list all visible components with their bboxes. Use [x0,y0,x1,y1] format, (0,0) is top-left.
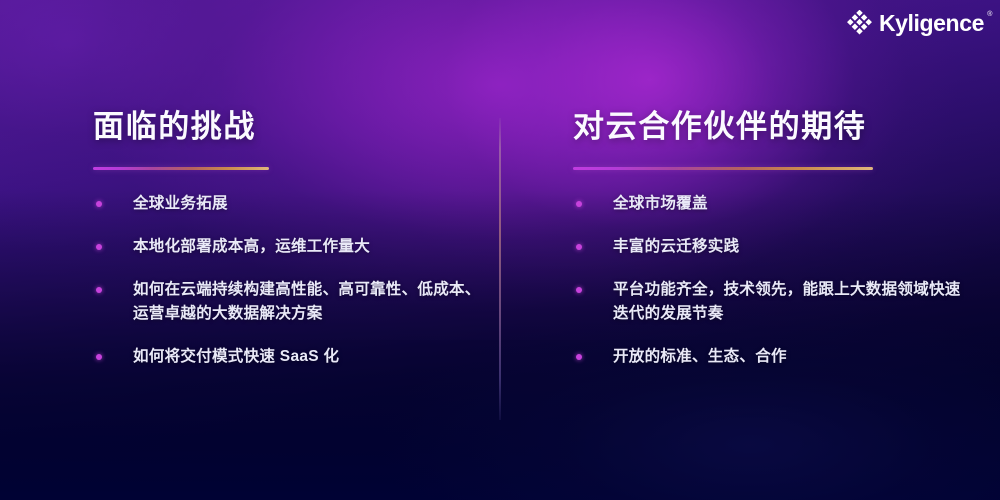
bullet-list-challenges: 全球业务拓展 本地化部署成本高，运维工作量大 如何在云端持续构建高性能、高可靠性… [93,192,483,369]
heading-underline-challenges [93,167,269,170]
presentation-slide: Kyligence ® 面临的挑战 全球业务拓展 本地化部署成本高，运维工作量大… [0,0,1000,500]
list-item: 如何将交付模式快速 SaaS 化 [93,345,483,369]
heading-underline-expectations [573,167,873,170]
logo-wordmark-text: Kyligence [879,10,984,36]
list-item: 全球市场覆盖 [573,192,973,216]
registered-trademark-icon: ® [987,11,992,18]
bullet-dot-icon [576,354,582,360]
list-item: 开放的标准、生态、合作 [573,345,973,369]
bullet-dot-icon [96,287,102,293]
list-item-text: 如何在云端持续构建高性能、高可靠性、低成本、运营卓越的大数据解决方案 [133,278,483,326]
list-item: 丰富的云迁移实践 [573,235,973,259]
bullet-list-expectations: 全球市场覆盖 丰富的云迁移实践 平台功能齐全，技术领先，能跟上大数据领域快速迭代… [573,192,973,369]
bullet-dot-icon [96,201,102,207]
column-divider [499,118,501,420]
list-item-text: 开放的标准、生态、合作 [613,345,973,369]
list-item-text: 如何将交付模式快速 SaaS 化 [133,345,483,369]
list-item-text: 平台功能齐全，技术领先，能跟上大数据领域快速迭代的发展节奏 [613,278,973,326]
list-item-text: 本地化部署成本高，运维工作量大 [133,235,483,259]
column-challenges: 面临的挑战 全球业务拓展 本地化部署成本高，运维工作量大 如何在云端持续构建高性… [93,110,483,369]
kyligence-diamond-grid-icon [847,10,873,36]
column-heading-challenges: 面临的挑战 [93,110,483,144]
kyligence-logo: Kyligence ® [847,10,984,36]
logo-wordmark: Kyligence ® [879,12,984,35]
list-item: 如何在云端持续构建高性能、高可靠性、低成本、运营卓越的大数据解决方案 [93,278,483,326]
list-item-text: 全球业务拓展 [133,192,483,216]
bullet-dot-icon [96,244,102,250]
bullet-dot-icon [576,287,582,293]
list-item-text: 丰富的云迁移实践 [613,235,973,259]
column-expectations: 对云合作伙伴的期待 全球市场覆盖 丰富的云迁移实践 平台功能齐全，技术领先，能跟… [573,110,973,369]
bullet-dot-icon [576,244,582,250]
bullet-dot-icon [576,201,582,207]
list-item: 本地化部署成本高，运维工作量大 [93,235,483,259]
list-item: 平台功能齐全，技术领先，能跟上大数据领域快速迭代的发展节奏 [573,278,973,326]
list-item-text: 全球市场覆盖 [613,192,973,216]
column-heading-expectations: 对云合作伙伴的期待 [573,110,973,144]
bullet-dot-icon [96,354,102,360]
list-item: 全球业务拓展 [93,192,483,216]
